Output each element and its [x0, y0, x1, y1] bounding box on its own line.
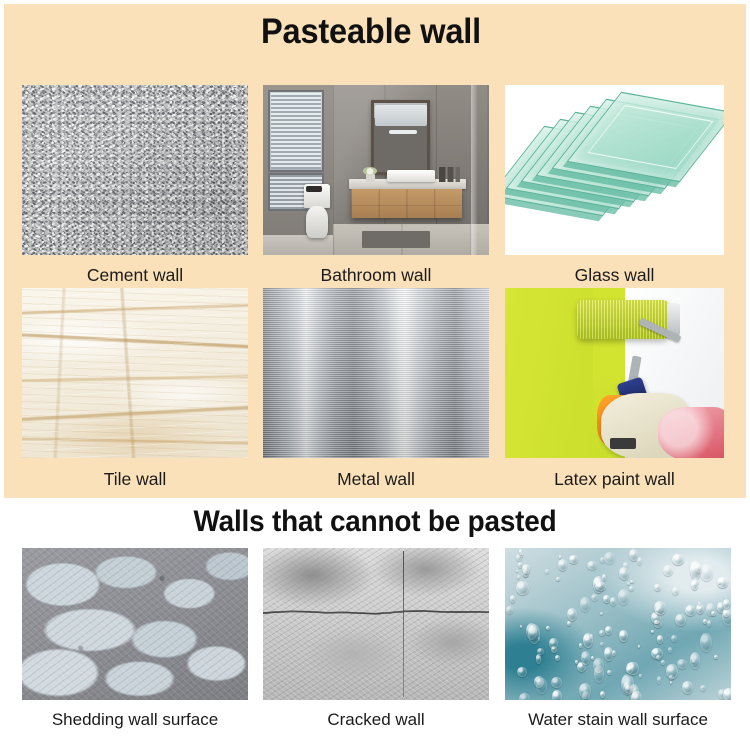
- cracked-wall-image: [263, 548, 489, 700]
- latex-paint-wall-image: [505, 288, 724, 458]
- section-title-cannot-be-pasted: Walls that cannot be pasted: [26, 505, 724, 539]
- card-water-stain-wall-surface: Water stain wall surface: [505, 548, 731, 700]
- bathroom-wall-image: [263, 85, 489, 255]
- metal-wall-image: [263, 288, 489, 458]
- card-tile-wall: Tile wall: [22, 288, 248, 458]
- caption-metal-wall: Metal wall: [243, 469, 509, 490]
- shedding-wall-surface-image: [22, 548, 248, 700]
- caption-shedding-wall-surface: Shedding wall surface: [2, 710, 268, 730]
- card-bathroom-wall: Bathroom wall: [263, 85, 489, 255]
- water-stain-wall-surface-image: [505, 548, 731, 700]
- caption-latex-paint-wall: Latex paint wall: [485, 469, 744, 490]
- tile-wall-image: [22, 288, 248, 458]
- caption-cement-wall: Cement wall: [2, 265, 268, 286]
- caption-bathroom-wall: Bathroom wall: [243, 265, 509, 286]
- card-glass-wall: Glass wall: [505, 85, 724, 255]
- caption-cracked-wall: Cracked wall: [243, 710, 509, 730]
- cement-wall-image: [22, 85, 248, 255]
- card-cement-wall: Cement wall: [22, 85, 248, 255]
- caption-tile-wall: Tile wall: [2, 469, 268, 490]
- infographic-page: Pasteable wall Cement wall: [0, 0, 750, 750]
- card-shedding-wall-surface: Shedding wall surface: [22, 548, 248, 700]
- caption-glass-wall: Glass wall: [485, 265, 744, 286]
- card-cracked-wall: Cracked wall: [263, 548, 489, 700]
- water-droplets: [505, 548, 731, 700]
- page-title: Pasteable wall: [26, 12, 716, 52]
- glass-wall-image: [505, 85, 724, 255]
- caption-water-stain-wall-surface: Water stain wall surface: [485, 710, 750, 730]
- card-metal-wall: Metal wall: [263, 288, 489, 458]
- card-latex-paint-wall: Latex paint wall: [505, 288, 724, 458]
